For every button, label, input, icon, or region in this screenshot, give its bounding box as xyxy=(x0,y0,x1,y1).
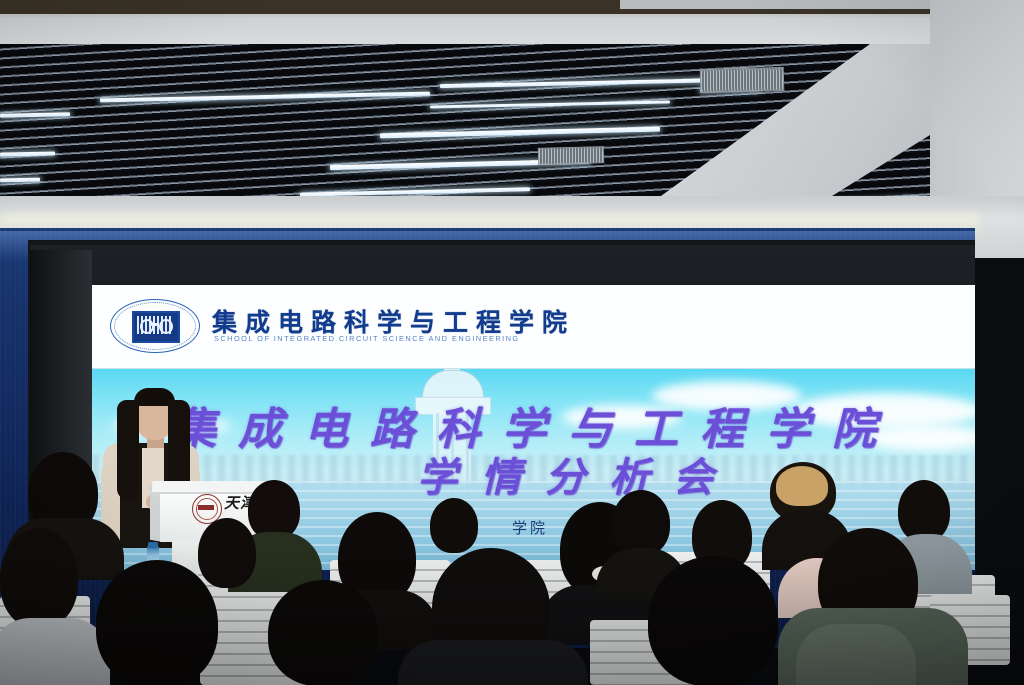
podium-crest-bar-icon xyxy=(198,505,214,510)
school-name-english: SCHOOL OF INTEGRATED CIRCUIT SCIENCE AND… xyxy=(214,334,520,343)
audience-head xyxy=(0,528,78,628)
audience-head-highlight xyxy=(776,466,828,506)
screen-footer-text: 学院 xyxy=(512,517,548,538)
audience-head xyxy=(198,518,256,588)
screen-header-divider xyxy=(92,368,975,369)
chip-glyph-left-icon xyxy=(140,319,154,334)
audience-head-foreground xyxy=(648,556,778,685)
screen-title-line2: 学情分析会 xyxy=(417,445,737,503)
audience-head xyxy=(248,480,300,540)
water-bottle-cap xyxy=(148,542,158,548)
ceiling-light-tube xyxy=(0,178,40,183)
audience-head xyxy=(430,498,478,553)
ceiling-air-vent xyxy=(700,67,785,93)
audience-head xyxy=(612,490,670,556)
chip-glyph-right-icon xyxy=(159,319,173,334)
audience-head-foreground xyxy=(96,560,218,685)
chip-glyph-bar-icon xyxy=(150,323,159,326)
speaker-hair-left xyxy=(117,400,139,500)
ceiling-air-vent xyxy=(538,146,604,165)
audience-head xyxy=(898,480,950,542)
audience-head-foreground xyxy=(268,580,378,685)
audience-shoulders xyxy=(0,618,110,685)
audience-jacket-hood xyxy=(796,624,916,685)
screen-header: 集成电路科学与工程学院 SCHOOL OF INTEGRATED CIRCUIT… xyxy=(92,285,975,369)
photo-scene: 集成电路科学与工程学院 SCHOOL OF INTEGRATED CIRCUIT… xyxy=(0,0,1024,685)
audience-shoulders xyxy=(398,640,588,685)
